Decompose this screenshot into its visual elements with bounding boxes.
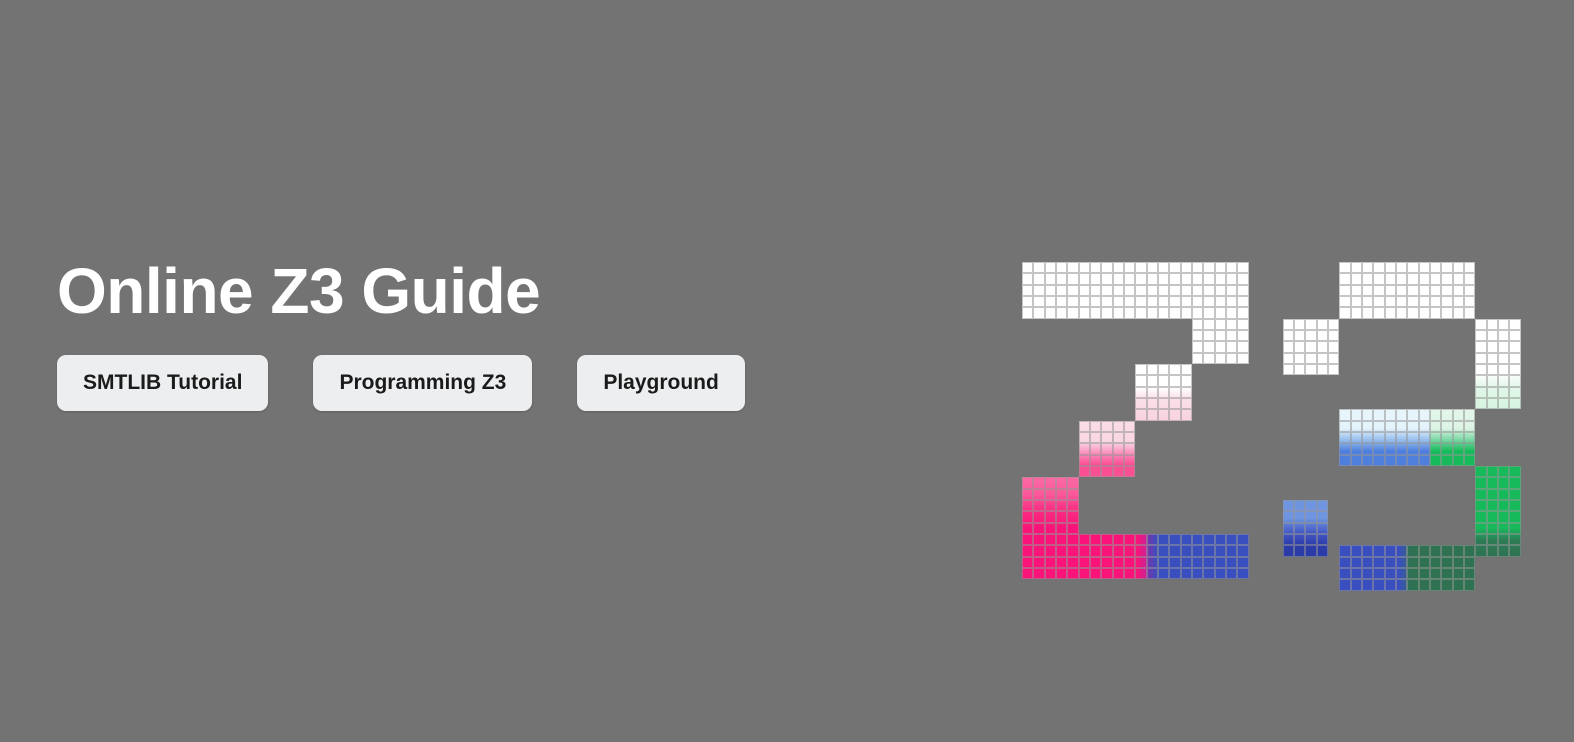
pixel-cell (1453, 545, 1464, 556)
pixel-cell (1237, 330, 1248, 341)
pixel-cell (1430, 455, 1441, 466)
pixel-cell (1464, 262, 1475, 273)
programming-z3-button[interactable]: Programming Z3 (313, 355, 532, 411)
pixel-cell (1498, 319, 1509, 330)
pixel-cell (1147, 398, 1158, 409)
pixel-cell (1203, 545, 1214, 556)
pixel-cell (1509, 489, 1520, 500)
pixel-cell (1033, 296, 1044, 307)
pixel-cell (1475, 375, 1486, 386)
pixel-cell (1328, 353, 1339, 364)
pixel-cell (1158, 262, 1169, 273)
pixel-cell (1283, 353, 1294, 364)
pixel-cell (1022, 523, 1033, 534)
pixel-cell (1203, 296, 1214, 307)
pixel-cell (1487, 489, 1498, 500)
pixel-cell (1407, 545, 1418, 556)
page-title: Online Z3 Guide (57, 258, 957, 325)
pixel-cell (1226, 534, 1237, 545)
pixel-cell (1419, 421, 1430, 432)
pixel-cell (1373, 455, 1384, 466)
pixel-cell (1453, 579, 1464, 590)
pixel-cell (1169, 545, 1180, 556)
pixel-cell (1101, 557, 1112, 568)
pixel-cell (1067, 262, 1078, 273)
pixel-cell (1181, 557, 1192, 568)
pixel-cell (1067, 545, 1078, 556)
pixel-cell (1045, 285, 1056, 296)
pixel-cell (1396, 545, 1407, 556)
pixel-cell (1101, 262, 1112, 273)
pixel-cell (1022, 273, 1033, 284)
pixel-cell (1509, 511, 1520, 522)
pixel-cell (1396, 443, 1407, 454)
pixel-cell (1464, 579, 1475, 590)
pixel-cell (1419, 273, 1430, 284)
pixel-cell (1362, 557, 1373, 568)
pixel-cell (1237, 307, 1248, 318)
pixel-cell (1385, 557, 1396, 568)
pixel-cell (1509, 387, 1520, 398)
pixel-cell (1396, 307, 1407, 318)
pixel-cell (1396, 296, 1407, 307)
pixel-cell (1090, 568, 1101, 579)
pixel-cell (1067, 296, 1078, 307)
pixel-cell (1430, 421, 1441, 432)
pixel-cell (1067, 557, 1078, 568)
pixel-cell (1430, 285, 1441, 296)
pixel-cell (1056, 296, 1067, 307)
pixel-cell (1487, 341, 1498, 352)
pixel-cell (1033, 285, 1044, 296)
pixel-cell (1237, 568, 1248, 579)
pixel-cell (1407, 432, 1418, 443)
pixel-cell (1362, 285, 1373, 296)
pixel-cell (1294, 330, 1305, 341)
pixel-cell (1158, 387, 1169, 398)
pixel-cell (1351, 273, 1362, 284)
pixel-cell (1113, 285, 1124, 296)
pixel-cell (1396, 579, 1407, 590)
pixel-cell (1339, 579, 1350, 590)
pixel-cell (1407, 579, 1418, 590)
pixel-cell (1022, 557, 1033, 568)
pixel-cell (1033, 477, 1044, 488)
pixel-cell (1498, 489, 1509, 500)
pixel-cell (1396, 262, 1407, 273)
pixel-cell (1385, 307, 1396, 318)
pixel-cell (1033, 568, 1044, 579)
pixel-cell (1147, 285, 1158, 296)
pixel-cell (1441, 455, 1452, 466)
pixel-cell (1101, 443, 1112, 454)
pixel-cell (1158, 364, 1169, 375)
pixel-cell (1033, 545, 1044, 556)
pixel-cell (1215, 273, 1226, 284)
pixel-cell (1283, 511, 1294, 522)
pixel-cell (1475, 523, 1486, 534)
pixel-cell (1181, 568, 1192, 579)
pixel-cell (1283, 364, 1294, 375)
pixel-cell (1464, 557, 1475, 568)
pixel-cell (1339, 296, 1350, 307)
pixel-cell (1113, 421, 1124, 432)
pixel-cell (1135, 534, 1146, 545)
pixel-cell (1135, 387, 1146, 398)
pixel-cell (1113, 568, 1124, 579)
pixel-cell (1079, 568, 1090, 579)
pixel-cell (1067, 477, 1078, 488)
pixel-cell (1475, 364, 1486, 375)
pixel-cell (1147, 545, 1158, 556)
pixel-cell (1135, 375, 1146, 386)
pixel-cell (1181, 364, 1192, 375)
pixel-cell (1351, 579, 1362, 590)
pixel-cell (1181, 398, 1192, 409)
pixel-cell (1045, 273, 1056, 284)
pixel-cell (1215, 296, 1226, 307)
pixel-cell (1305, 511, 1316, 522)
pixel-cell (1192, 353, 1203, 364)
pixel-cell (1475, 319, 1486, 330)
pixel-cell (1067, 489, 1078, 500)
pixel-cell (1226, 557, 1237, 568)
pixel-cell (1237, 534, 1248, 545)
three-mid-bar-blue (1339, 409, 1430, 466)
pixel-cell (1237, 285, 1248, 296)
pixel-cell (1351, 443, 1362, 454)
pixel-cell (1158, 285, 1169, 296)
pixel-cell (1305, 534, 1316, 545)
pixel-cell (1475, 353, 1486, 364)
pixel-cell (1351, 296, 1362, 307)
pixel-cell (1373, 545, 1384, 556)
pixel-cell (1487, 500, 1498, 511)
pixel-cell (1090, 285, 1101, 296)
pixel-cell (1135, 364, 1146, 375)
pixel-cell (1135, 398, 1146, 409)
pixel-cell (1079, 421, 1090, 432)
pixel-cell (1169, 307, 1180, 318)
pixel-cell (1362, 307, 1373, 318)
pixel-cell (1283, 523, 1294, 534)
pixel-cell (1124, 273, 1135, 284)
pixel-cell (1453, 568, 1464, 579)
pixel-cell (1147, 375, 1158, 386)
pixel-cell (1498, 364, 1509, 375)
pixel-cell (1475, 387, 1486, 398)
pixel-cell (1192, 307, 1203, 318)
pixel-cell (1430, 262, 1441, 273)
pixel-cell (1317, 500, 1328, 511)
pixel-cell (1487, 375, 1498, 386)
pixel-cell (1441, 432, 1452, 443)
pixel-cell (1464, 296, 1475, 307)
pixel-cell (1362, 432, 1373, 443)
pixel-cell (1441, 296, 1452, 307)
pixel-cell (1101, 545, 1112, 556)
pixel-cell (1056, 489, 1067, 500)
pixel-cell (1124, 455, 1135, 466)
pixel-cell (1464, 568, 1475, 579)
pixel-cell (1147, 262, 1158, 273)
pixel-cell (1441, 307, 1452, 318)
pixel-cell (1090, 421, 1101, 432)
pixel-cell (1362, 443, 1373, 454)
pixel-cell (1305, 330, 1316, 341)
pixel-cell (1237, 273, 1248, 284)
pixel-cell (1124, 443, 1135, 454)
pixel-cell (1283, 545, 1294, 556)
pixel-cell (1396, 421, 1407, 432)
pixel-cell (1215, 534, 1226, 545)
pixel-cell (1124, 534, 1135, 545)
pixel-cell (1203, 273, 1214, 284)
pixel-cell (1033, 511, 1044, 522)
pixel-cell (1475, 534, 1486, 545)
pixel-cell (1192, 568, 1203, 579)
pixel-cell (1181, 534, 1192, 545)
pixel-cell (1237, 353, 1248, 364)
pixel-cell (1351, 568, 1362, 579)
pixel-cell (1192, 330, 1203, 341)
pixel-cell (1067, 273, 1078, 284)
pixel-cell (1317, 545, 1328, 556)
pixel-cell (1113, 534, 1124, 545)
pixel-cell (1430, 443, 1441, 454)
pixel-cell (1294, 500, 1305, 511)
pixel-cell (1509, 500, 1520, 511)
pixel-cell (1283, 500, 1294, 511)
pixel-cell (1181, 296, 1192, 307)
pixel-cell (1101, 455, 1112, 466)
pixel-cell (1305, 545, 1316, 556)
pixel-cell (1237, 545, 1248, 556)
pixel-cell (1475, 341, 1486, 352)
pixel-cell (1294, 319, 1305, 330)
pixel-cell (1419, 262, 1430, 273)
pixel-cell (1203, 353, 1214, 364)
pixel-cell (1453, 296, 1464, 307)
pixel-cell (1339, 568, 1350, 579)
pixel-cell (1113, 443, 1124, 454)
pixel-cell (1124, 296, 1135, 307)
pixel-cell (1317, 364, 1328, 375)
pixel-cell (1373, 443, 1384, 454)
pixel-cell (1362, 545, 1373, 556)
pixel-cell (1317, 341, 1328, 352)
pixel-cell (1419, 443, 1430, 454)
pixel-cell (1135, 409, 1146, 420)
pixel-cell (1373, 557, 1384, 568)
pixel-cell (1475, 466, 1486, 477)
pixel-cell (1079, 307, 1090, 318)
pixel-cell (1294, 534, 1305, 545)
pixel-cell (1135, 296, 1146, 307)
pixel-cell (1215, 557, 1226, 568)
pixel-cell (1203, 319, 1214, 330)
pixel-cell (1339, 262, 1350, 273)
pixel-cell (1090, 262, 1101, 273)
pixel-cell (1396, 432, 1407, 443)
pixel-cell (1056, 523, 1067, 534)
pixel-cell (1090, 443, 1101, 454)
pixel-cell (1328, 330, 1339, 341)
pixel-cell (1169, 262, 1180, 273)
pixel-cell (1362, 296, 1373, 307)
pixel-cell (1079, 534, 1090, 545)
pixel-cell (1226, 353, 1237, 364)
pixel-cell (1283, 341, 1294, 352)
pixel-cell (1101, 273, 1112, 284)
pixel-cell (1362, 262, 1373, 273)
pixel-cell (1373, 262, 1384, 273)
pixel-cell (1351, 545, 1362, 556)
pixel-cell (1475, 330, 1486, 341)
pixel-cell (1113, 432, 1124, 443)
pixel-cell (1033, 557, 1044, 568)
pixel-cell (1090, 557, 1101, 568)
pixel-cell (1045, 545, 1056, 556)
pixel-cell (1464, 307, 1475, 318)
pixel-cell (1328, 341, 1339, 352)
pixel-cell (1464, 273, 1475, 284)
pixel-cell (1385, 409, 1396, 420)
pixel-cell (1192, 545, 1203, 556)
pixel-cell (1079, 285, 1090, 296)
pixel-cell (1045, 557, 1056, 568)
pixel-cell (1147, 307, 1158, 318)
pixel-cell (1135, 545, 1146, 556)
pixel-cell (1487, 534, 1498, 545)
pixel-cell (1113, 545, 1124, 556)
pixel-cell (1033, 307, 1044, 318)
pixel-cell (1215, 568, 1226, 579)
pixel-cell (1113, 466, 1124, 477)
pixel-cell (1339, 409, 1350, 420)
pixel-cell (1283, 534, 1294, 545)
pixel-cell (1498, 523, 1509, 534)
playground-button[interactable]: Playground (577, 355, 745, 411)
pixel-cell (1385, 296, 1396, 307)
pixel-cell (1407, 409, 1418, 420)
pixel-cell (1339, 557, 1350, 568)
pixel-cell (1215, 353, 1226, 364)
pixel-cell (1430, 545, 1441, 556)
pixel-cell (1101, 568, 1112, 579)
pixel-cell (1124, 307, 1135, 318)
pixel-cell (1067, 568, 1078, 579)
pixel-cell (1169, 387, 1180, 398)
pixel-cell (1498, 466, 1509, 477)
pixel-cell (1317, 353, 1328, 364)
pixel-cell (1056, 477, 1067, 488)
pixel-cell (1056, 285, 1067, 296)
pixel-cell (1339, 273, 1350, 284)
pixel-cell (1090, 466, 1101, 477)
pixel-cell (1022, 489, 1033, 500)
pixel-cell (1192, 273, 1203, 284)
pixel-cell (1045, 568, 1056, 579)
pixel-cell (1385, 432, 1396, 443)
pixel-cell (1487, 466, 1498, 477)
pixel-cell (1033, 523, 1044, 534)
pixel-cell (1226, 273, 1237, 284)
pixel-cell (1351, 432, 1362, 443)
pixel-cell (1079, 273, 1090, 284)
pixel-cell (1158, 534, 1169, 545)
pixel-cell (1192, 285, 1203, 296)
three-top-bar (1339, 262, 1475, 319)
pixel-cell (1135, 262, 1146, 273)
pixel-cell (1487, 353, 1498, 364)
pixel-cell (1441, 579, 1452, 590)
pixel-cell (1464, 409, 1475, 420)
pixel-cell (1407, 557, 1418, 568)
pixel-cell (1203, 557, 1214, 568)
pixel-cell (1158, 398, 1169, 409)
pixel-cell (1033, 534, 1044, 545)
pixel-cell (1396, 557, 1407, 568)
three-upper-right (1475, 319, 1520, 410)
pixel-cell (1203, 307, 1214, 318)
pixel-cell (1158, 307, 1169, 318)
pixel-cell (1101, 466, 1112, 477)
pixel-cell (1328, 364, 1339, 375)
pixel-cell (1056, 534, 1067, 545)
pixel-cell (1135, 307, 1146, 318)
pixel-cell (1033, 500, 1044, 511)
pixel-cell (1101, 534, 1112, 545)
pixel-cell (1124, 421, 1135, 432)
smtlib-tutorial-button[interactable]: SMTLIB Tutorial (57, 355, 268, 411)
pixel-cell (1101, 421, 1112, 432)
pixel-cell (1373, 296, 1384, 307)
pixel-cell (1124, 545, 1135, 556)
pixel-cell (1113, 455, 1124, 466)
pixel-cell (1181, 409, 1192, 420)
pixel-cell (1441, 285, 1452, 296)
pixel-cell (1158, 375, 1169, 386)
pixel-cell (1385, 579, 1396, 590)
pixel-cell (1441, 545, 1452, 556)
pixel-cell (1475, 500, 1486, 511)
pixel-cell (1339, 545, 1350, 556)
pixel-cell (1147, 534, 1158, 545)
pixel-cell (1181, 285, 1192, 296)
pixel-cell (1430, 557, 1441, 568)
pixel-cell (1226, 330, 1237, 341)
pixel-cell (1203, 534, 1214, 545)
pixel-cell (1351, 557, 1362, 568)
pixel-cell (1192, 296, 1203, 307)
pixel-cell (1192, 341, 1203, 352)
pixel-cell (1158, 557, 1169, 568)
pixel-cell (1215, 307, 1226, 318)
pixel-cell (1226, 545, 1237, 556)
pixel-cell (1113, 262, 1124, 273)
pixel-cell (1181, 273, 1192, 284)
pixel-cell (1407, 285, 1418, 296)
pixel-cell (1487, 511, 1498, 522)
pixel-cell (1045, 500, 1056, 511)
pixel-cell (1090, 296, 1101, 307)
pixel-cell (1487, 330, 1498, 341)
pixel-cell (1192, 319, 1203, 330)
pixel-cell (1362, 579, 1373, 590)
pixel-cell (1056, 262, 1067, 273)
pixel-cell (1509, 330, 1520, 341)
